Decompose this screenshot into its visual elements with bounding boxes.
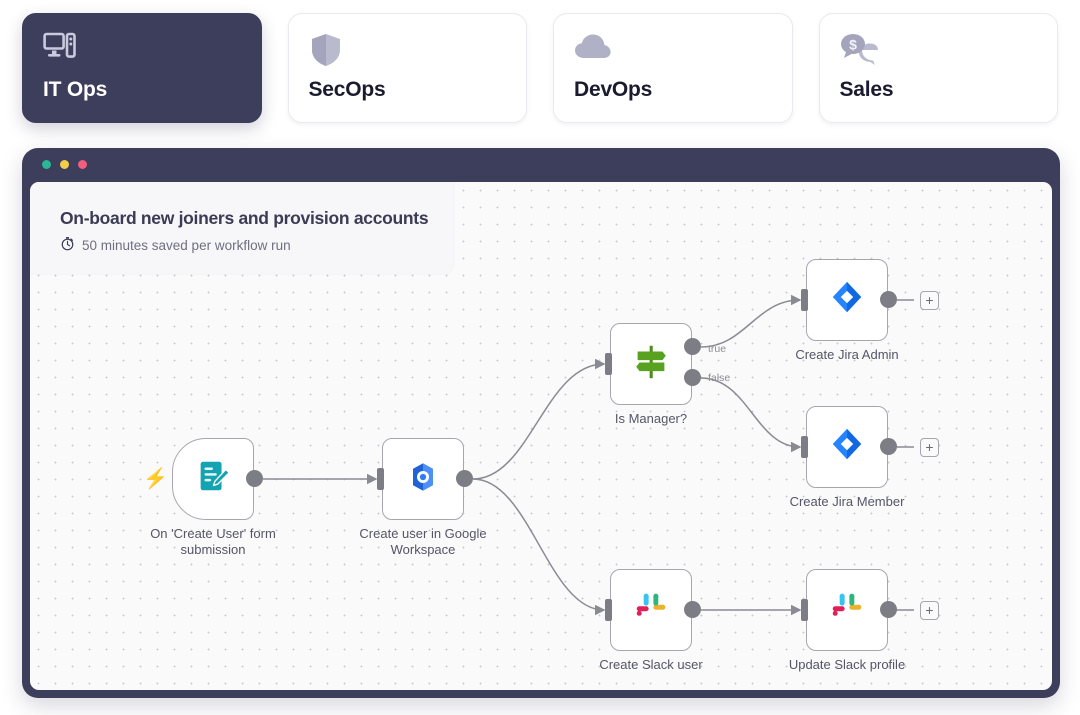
stopwatch-icon [60, 236, 75, 254]
input-port[interactable] [801, 599, 808, 621]
cloud-icon [574, 32, 772, 72]
output-port-true[interactable] [684, 338, 701, 355]
output-port[interactable] [246, 470, 263, 487]
input-port[interactable] [377, 468, 384, 490]
input-port[interactable] [605, 599, 612, 621]
tab-sales[interactable]: $ Sales [819, 13, 1059, 123]
output-port[interactable] [684, 601, 701, 618]
input-port[interactable] [801, 436, 808, 458]
node-trigger[interactable]: ⚡ On 'Create User' form submission [172, 438, 254, 520]
output-port[interactable] [880, 291, 897, 308]
monitor-icon [43, 32, 241, 72]
tab-label: DevOps [574, 78, 772, 102]
tab-it-ops[interactable]: IT Ops [22, 13, 262, 123]
slack-icon [632, 589, 670, 632]
node-create-user-google-workspace[interactable]: Create user in Google Workspace [382, 438, 464, 520]
node-create-jira-admin[interactable]: Create Jira Admin [806, 259, 888, 341]
node-label: Is Manager? [556, 411, 746, 427]
node-label: On 'Create User' form submission [118, 526, 308, 559]
node-body[interactable] [806, 406, 888, 488]
workflow-canvas[interactable]: On-board new joiners and provision accou… [30, 182, 1052, 690]
shield-icon [309, 32, 507, 72]
window-dot-pink[interactable] [78, 160, 87, 169]
window-dot-green[interactable] [42, 160, 51, 169]
time-saved-text: 50 minutes saved per workflow run [82, 238, 291, 253]
window-dot-yellow[interactable] [60, 160, 69, 169]
output-port[interactable] [880, 601, 897, 618]
window-controls [42, 160, 87, 169]
add-node-button[interactable]: + [920, 291, 939, 310]
node-label: Create Jira Member [752, 494, 942, 510]
form-edit-icon [194, 458, 232, 501]
tab-dev-ops[interactable]: DevOps [553, 13, 793, 123]
chat-dollar-icon: $ [840, 32, 1038, 72]
node-create-slack-user[interactable]: Create Slack user [610, 569, 692, 651]
branch-label-true: true [708, 343, 726, 355]
node-body[interactable] [172, 438, 254, 520]
node-body[interactable] [610, 569, 692, 651]
jira-icon [828, 279, 866, 322]
add-node-button[interactable]: + [920, 438, 939, 457]
lightning-bolt-icon: ⚡ [143, 469, 168, 489]
node-body[interactable] [806, 259, 888, 341]
workflow-window: On-board new joiners and provision accou… [22, 148, 1060, 698]
node-is-manager[interactable]: Is Manager? [610, 323, 692, 405]
output-port[interactable] [456, 470, 473, 487]
node-body[interactable] [382, 438, 464, 520]
node-update-slack-profile[interactable]: Update Slack profile [806, 569, 888, 651]
input-port[interactable] [605, 353, 612, 375]
workflow-title-card: On-board new joiners and provision accou… [30, 182, 454, 274]
output-port[interactable] [880, 438, 897, 455]
jira-icon [828, 426, 866, 469]
google-cloud-icon [403, 457, 443, 502]
signpost-icon [630, 341, 672, 388]
output-port-false[interactable] [684, 369, 701, 386]
slack-icon [828, 589, 866, 632]
page-title: On-board new joiners and provision accou… [60, 208, 428, 229]
node-label: Create Jira Admin [752, 347, 942, 363]
time-saved-row: 50 minutes saved per workflow run [60, 236, 428, 254]
branch-label-false: false [708, 372, 730, 384]
node-label: Create Slack user [556, 657, 746, 673]
node-create-jira-member[interactable]: Create Jira Member [806, 406, 888, 488]
tab-label: IT Ops [43, 78, 241, 102]
tab-label: SecOps [309, 78, 507, 102]
node-body[interactable] [806, 569, 888, 651]
node-label: Update Slack profile [752, 657, 942, 673]
svg-text:$: $ [849, 37, 857, 53]
node-label: Create user in Google Workspace [328, 526, 518, 559]
node-body[interactable] [610, 323, 692, 405]
add-node-button[interactable]: + [920, 601, 939, 620]
category-tab-bar: IT Ops SecOps DevOps $ Sales [0, 0, 1080, 135]
input-port[interactable] [801, 289, 808, 311]
tab-label: Sales [840, 78, 1038, 102]
tab-sec-ops[interactable]: SecOps [288, 13, 528, 123]
